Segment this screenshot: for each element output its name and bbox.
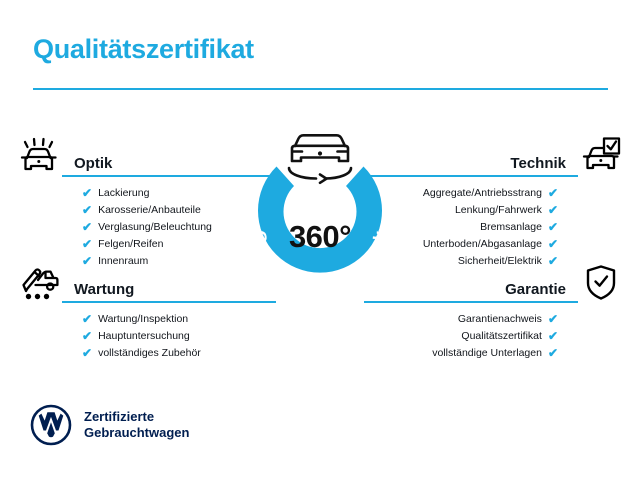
list-item-label: vollständiges Zubehör: [98, 345, 201, 361]
check-icon: ✔: [82, 187, 92, 199]
list-item-label: Lenkung/Fahrwerk: [455, 202, 542, 218]
check-icon: ✔: [82, 347, 92, 359]
list-item: vollständige Unterlagen✔: [364, 345, 558, 361]
list-item-label: Felgen/Reifen: [98, 236, 163, 252]
list-item-label: Karosserie/Anbauteile: [98, 202, 201, 218]
check-icon: ✔: [548, 330, 558, 342]
check-icon: ✔: [548, 238, 558, 250]
header-divider: [33, 88, 608, 90]
list-item-label: Lackierung: [98, 185, 149, 201]
list-item-label: Wartung/Inspektion: [98, 311, 188, 327]
list-item: Qualitätszertifikat✔: [364, 328, 558, 344]
badge-center-value: 360°: [232, 219, 408, 255]
list-item-label: Hauptuntersuchung: [98, 328, 190, 344]
check-icon: ✔: [548, 347, 558, 359]
list-item: ✔vollständiges Zubehör: [82, 345, 276, 361]
list-item-label: Unterboden/Abgasanlage: [423, 236, 542, 252]
check-icon: ✔: [82, 204, 92, 216]
check-icon: ✔: [82, 330, 92, 342]
check-icon: ✔: [548, 313, 558, 325]
check-icon: ✔: [82, 238, 92, 250]
badge-360-gebrauchtwagen-check: Gebrauchtwagen-Check 360°: [232, 118, 408, 314]
check-icon: ✔: [548, 187, 558, 199]
shield-check-icon: [578, 260, 624, 304]
list-item: ✔Hauptuntersuchung: [82, 328, 276, 344]
check-icon: ✔: [548, 204, 558, 216]
list-item-label: Verglasung/Beleuchtung: [98, 219, 212, 235]
car-shine-icon: [16, 134, 62, 178]
check-icon: ✔: [548, 221, 558, 233]
check-icon: ✔: [82, 221, 92, 233]
list-item-label: Aggregate/Antriebsstrang: [423, 185, 542, 201]
certificate-page: Qualitätszertifikat: [0, 0, 640, 480]
page-title: Qualitätszertifikat: [33, 34, 254, 65]
check-icon: ✔: [82, 313, 92, 325]
list-item-label: Garantienachweis: [458, 311, 542, 327]
car-checkbox-icon: [578, 134, 624, 178]
footer-brand: Zertifizierte Gebrauchtwagen: [30, 404, 189, 446]
list-item-label: vollständige Unterlagen: [432, 345, 542, 361]
list-item-label: Bremsanlage: [480, 219, 542, 235]
list-item-label: Qualitätszertifikat: [461, 328, 542, 344]
vw-logo: [30, 404, 72, 446]
footer-brand-text: Zertifizierte Gebrauchtwagen: [84, 409, 189, 441]
car-service-pen-icon: [16, 260, 62, 304]
